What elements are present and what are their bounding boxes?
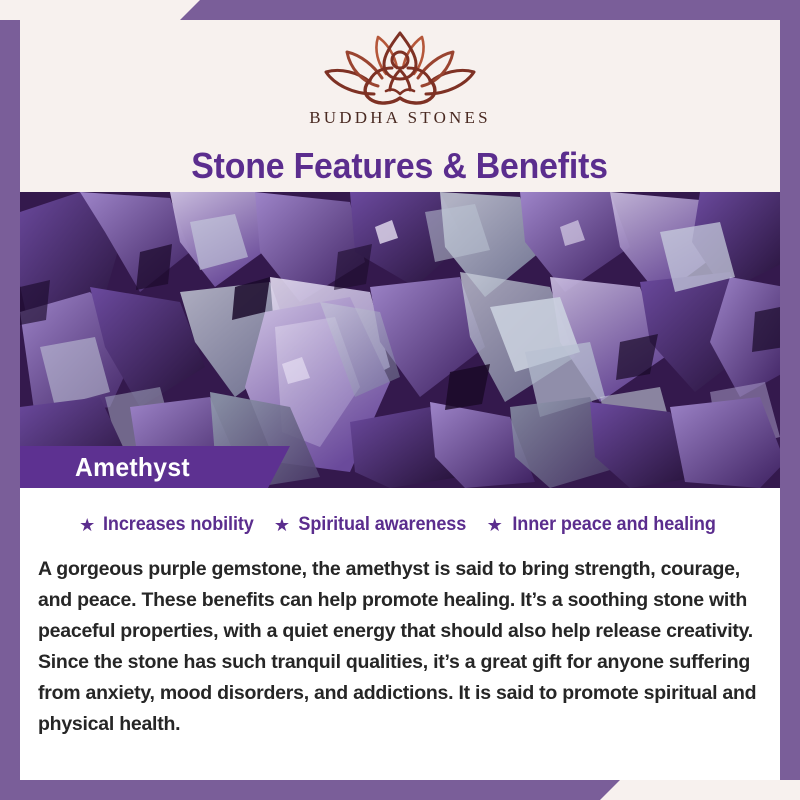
star-icon: ★: [79, 516, 95, 534]
frame-border-right: [780, 0, 800, 800]
frame-border-top: [0, 0, 800, 20]
stone-name-label: Amethyst: [75, 452, 190, 483]
lotus-meditation-icon: [316, 28, 484, 106]
feature-item-1: ★ Spiritual awareness: [274, 514, 471, 536]
frame-border-left: [0, 0, 20, 800]
stone-description: A gorgeous purple gemstone, the amethyst…: [38, 554, 762, 740]
content-panel: ★ Increases nobility ★ Spiritual awarene…: [20, 488, 780, 780]
frame-border-bottom: [0, 780, 800, 800]
feature-label: Inner peace and healing: [512, 514, 715, 536]
page-title: Stone Features & Benefits: [192, 145, 609, 187]
feature-item-2: ★ Inner peace and healing: [487, 514, 721, 536]
feature-list: ★ Increases nobility ★ Spiritual awarene…: [36, 488, 764, 544]
feature-label: Increases nobility: [103, 514, 254, 536]
title-band: Stone Features & Benefits: [20, 140, 780, 192]
feature-label: Spiritual awareness: [298, 514, 466, 536]
star-icon: ★: [487, 516, 503, 534]
infographic-card: BUDDHA STONES Stone Features & Benefits: [0, 0, 800, 800]
feature-item-0: ★ Increases nobility: [79, 514, 258, 536]
hero-image: Amethyst: [20, 192, 780, 488]
star-icon: ★: [274, 516, 290, 534]
card-inner: BUDDHA STONES Stone Features & Benefits: [20, 20, 780, 780]
brand-header: BUDDHA STONES: [20, 20, 780, 140]
frame-corner-top-left: [0, 0, 20, 20]
frame-corner-bottom-right: [780, 780, 800, 800]
stone-name-banner: Amethyst: [20, 446, 290, 488]
brand-name: BUDDHA STONES: [309, 108, 491, 128]
amethyst-crystal-cluster-photo: [20, 192, 780, 488]
